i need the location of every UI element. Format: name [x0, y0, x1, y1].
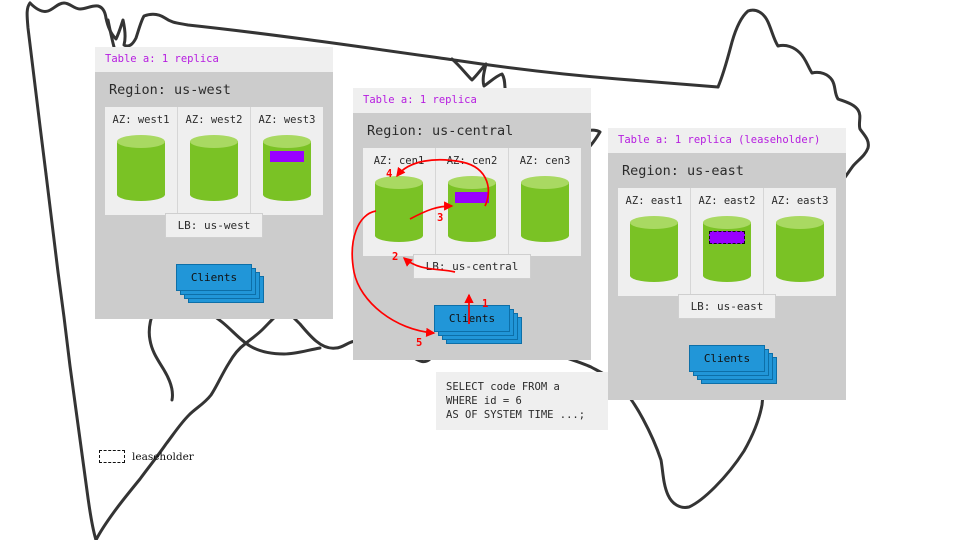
clients-stack-us-west[interactable]: Clients [176, 264, 252, 291]
cylinder-body [521, 182, 569, 236]
sql-line-3: AS OF SYSTEM TIME ...; [446, 409, 585, 421]
arrow-label-5: 5 [416, 337, 422, 349]
arrow-label-3: 3 [437, 212, 443, 224]
az-row-us-central: AZ: cen1 AZ: cen2 [363, 148, 581, 256]
az-cen3[interactable]: AZ: cen3 [509, 148, 581, 256]
region-us-east-body: Region: us-east AZ: east1 AZ: east2 [608, 153, 846, 400]
cylinder-top [263, 135, 311, 148]
replica-east1[interactable] [630, 216, 678, 282]
az-east2-label: AZ: east2 [699, 195, 756, 207]
region-us-west: Table a: 1 replica Region: us-west AZ: w… [95, 47, 333, 319]
cylinder-top [375, 176, 423, 189]
region-us-central: Table a: 1 replica Region: us-central AZ… [353, 88, 591, 360]
legend-leaseholder: leaseholder [99, 450, 194, 463]
clients-stack-us-east[interactable]: Clients [689, 345, 765, 372]
clients-us-central[interactable]: Clients [434, 305, 510, 332]
region-us-central-header: Table a: 1 replica [353, 88, 591, 113]
az-cen1[interactable]: AZ: cen1 [363, 148, 436, 256]
region-us-east-title: Region: us-east [618, 153, 836, 188]
cylinder-body [263, 141, 311, 195]
arrow-label-4: 4 [386, 168, 392, 180]
cylinder-top [448, 176, 496, 189]
leaseholder-swatch-icon [99, 450, 125, 463]
region-us-west-header: Table a: 1 replica [95, 47, 333, 72]
replica-east3[interactable] [776, 216, 824, 282]
az-east1-label: AZ: east1 [626, 195, 683, 207]
replica-west2[interactable] [190, 135, 238, 201]
clients-us-east[interactable]: Clients [689, 345, 765, 372]
az-west1-label: AZ: west1 [113, 114, 170, 126]
cylinder-top [630, 216, 678, 229]
region-us-west-body: Region: us-west AZ: west1 AZ: west2 [95, 72, 333, 319]
cylinder-body [375, 182, 423, 236]
clients-stack-us-central[interactable]: Clients [434, 305, 510, 332]
cylinder-top [521, 176, 569, 189]
clients-us-west[interactable]: Clients [176, 264, 252, 291]
az-cen1-label: AZ: cen1 [374, 155, 425, 167]
replica-west3[interactable] [263, 135, 311, 201]
sql-line-1: SELECT code FROM a [446, 381, 560, 393]
cylinder-body [630, 222, 678, 276]
az-cen2-label: AZ: cen2 [447, 155, 498, 167]
az-cen2[interactable]: AZ: cen2 [436, 148, 509, 256]
arrow-label-1: 1 [482, 298, 488, 310]
az-row-us-west: AZ: west1 AZ: west2 [105, 107, 323, 215]
region-us-central-body: Region: us-central AZ: cen1 AZ: cen2 [353, 113, 591, 360]
cylinder-top [776, 216, 824, 229]
diagram-stage: Table a: 1 replica Region: us-west AZ: w… [0, 0, 960, 540]
replica-east2[interactable] [703, 216, 751, 282]
arrow-label-2: 2 [392, 251, 398, 263]
load-balancer-us-west[interactable]: LB: us-west [165, 213, 264, 238]
az-west2-label: AZ: west2 [186, 114, 243, 126]
cylinder-body [117, 141, 165, 195]
az-west1[interactable]: AZ: west1 [105, 107, 178, 215]
cylinder-top [703, 216, 751, 229]
replica-cen3[interactable] [521, 176, 569, 242]
cylinder-body [448, 182, 496, 236]
replica-west1[interactable] [117, 135, 165, 201]
cylinder-top [190, 135, 238, 148]
cylinder-body [776, 222, 824, 276]
cylinder-top [117, 135, 165, 148]
region-us-central-title: Region: us-central [363, 113, 581, 148]
load-balancer-us-central[interactable]: LB: us-central [413, 254, 532, 279]
az-cen3-label: AZ: cen3 [520, 155, 571, 167]
az-row-us-east: AZ: east1 AZ: east2 [618, 188, 836, 296]
az-west3[interactable]: AZ: west3 [251, 107, 323, 215]
az-east1[interactable]: AZ: east1 [618, 188, 691, 296]
region-us-east-header: Table a: 1 replica (leaseholder) [608, 128, 846, 153]
sql-line-2: WHERE id = 6 [446, 395, 522, 407]
load-balancer-us-east[interactable]: LB: us-east [678, 294, 777, 319]
az-west2[interactable]: AZ: west2 [178, 107, 251, 215]
az-east2[interactable]: AZ: east2 [691, 188, 764, 296]
sql-query-note: SELECT code FROM a WHERE id = 6 AS OF SY… [436, 372, 608, 430]
region-us-east: Table a: 1 replica (leaseholder) Region:… [608, 128, 846, 400]
region-us-west-title: Region: us-west [105, 72, 323, 107]
az-east3-label: AZ: east3 [772, 195, 829, 207]
range-marker-cen2 [455, 192, 489, 203]
cylinder-body [190, 141, 238, 195]
range-marker-west3 [270, 151, 304, 162]
replica-cen2[interactable] [448, 176, 496, 242]
range-marker-east2-leaseholder [709, 231, 745, 244]
legend-label: leaseholder [132, 451, 194, 463]
replica-cen1[interactable] [375, 176, 423, 242]
az-east3[interactable]: AZ: east3 [764, 188, 836, 296]
az-west3-label: AZ: west3 [259, 114, 316, 126]
